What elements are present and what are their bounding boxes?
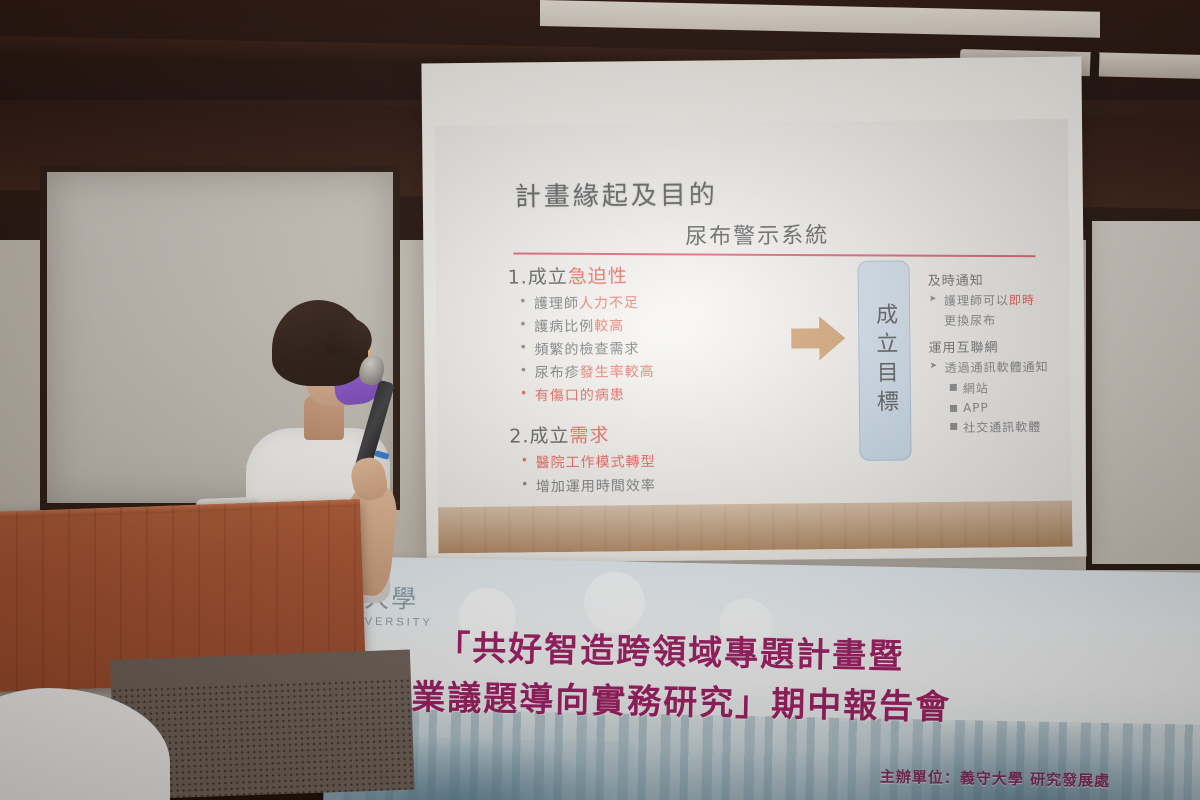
bullet-item: 護病比例較高 [534,317,778,336]
bullet-highlight: 人力不足 [579,295,639,312]
right-sub-item: 網站 [963,379,1073,397]
right-sub-item: 社交通訊軟體 [963,418,1072,436]
slide-left-column: 1.成立急迫性 護理師人力不足 護病比例較高 頻繁的檢查需求 尿布疹發生率較高 … [507,260,779,502]
slide-title: 計畫緣起及目的 [515,174,718,213]
banner-title-line-1: 「共好智造跨領域專題計畫暨 [436,620,905,678]
event-banner: 守大學 UNIVERSITY 「共好智造跨領域專題計畫暨 生產業議題導向實務研究… [323,556,1200,800]
section-number-2: 2. [509,426,529,448]
section-number-1: 1. [508,266,528,288]
bullet-highlight: 發生率較高 [580,364,655,381]
right-item-text: 透過通訊軟體通知 [945,360,1049,375]
bullet-text: 有傷口的病患 [535,388,625,405]
right-arrow-icon [791,316,845,361]
bullet-item: 有傷口的病患 [535,386,779,405]
section-heading-2: 2.成立需求 [509,419,779,449]
bullet-item: 護理師人力不足 [534,294,778,313]
slide-subtitle: 尿布警示系統 [685,217,829,251]
section-heading-plain-2: 成立 [529,425,569,447]
goal-box: 成立目標 [857,260,911,461]
section-heading-1: 1.成立急迫性 [507,260,777,290]
conference-room-scene: 計畫緣起及目的 尿布警示系統 1.成立急迫性 護理師人力不足 護病比例較高 頻繁… [0,0,1200,800]
right-item-highlight: 即時 [1009,293,1035,307]
bullet-item: 頻繁的檢查需求 [534,340,778,359]
bullet-item: 尿布疹發生率較高 [535,363,779,382]
right-arrow-item: 護理師可以即時 [944,291,1073,309]
bullet-text: 護理師 [534,296,579,312]
right-item-continuation: 更換尿布 [944,311,1072,330]
bullet-text: 護病比例 [534,319,594,336]
slide-divider-rule [513,253,1035,258]
banner-host-text: 主辦單位：義守大學 研究發展處 [880,766,1111,791]
bullet-text: 頻繁的檢查需求 [534,341,639,358]
whiteboard-right [1086,215,1200,570]
slide-footer-overlay [438,501,1072,554]
right-sub-item: APP [963,400,1073,415]
right-heading-2: 運用互聯網 [928,336,1072,357]
right-item-text: 護理師可以 [944,293,1009,308]
section-heading-highlight-1: 急迫性 [568,265,628,288]
section-heading-plain-1: 成立 [528,266,568,288]
projection-screen: 計畫緣起及目的 尿布警示系統 1.成立急迫性 護理師人力不足 護病比例較高 頻繁… [421,57,1086,564]
goal-box-label: 成立目標 [868,302,901,418]
bullet-item: 增加運用時間效率 [536,476,780,495]
right-arrow-item: 透過通訊軟體通知 [945,359,1073,377]
projector-screen-bracket [1089,52,1099,86]
bullet-highlight: 較高 [594,318,624,334]
right-heading-1: 及時通知 [928,268,1073,289]
slide-right-column: 及時通知 護理師可以即時 更換尿布 運用互聯網 透過通訊軟體通知 網站 APP … [928,260,1073,440]
bullet-item: 醫院工作模式轉型 [536,453,780,472]
bullet-text: 醫院工作模式轉型 [536,455,656,472]
section-heading-highlight-2: 需求 [569,425,609,447]
bullet-text: 尿布疹 [535,365,580,381]
bullet-text: 增加運用時間效率 [536,478,656,495]
slide-canvas: 計畫緣起及目的 尿布警示系統 1.成立急迫性 護理師人力不足 護病比例較高 頻繁… [434,119,1072,554]
